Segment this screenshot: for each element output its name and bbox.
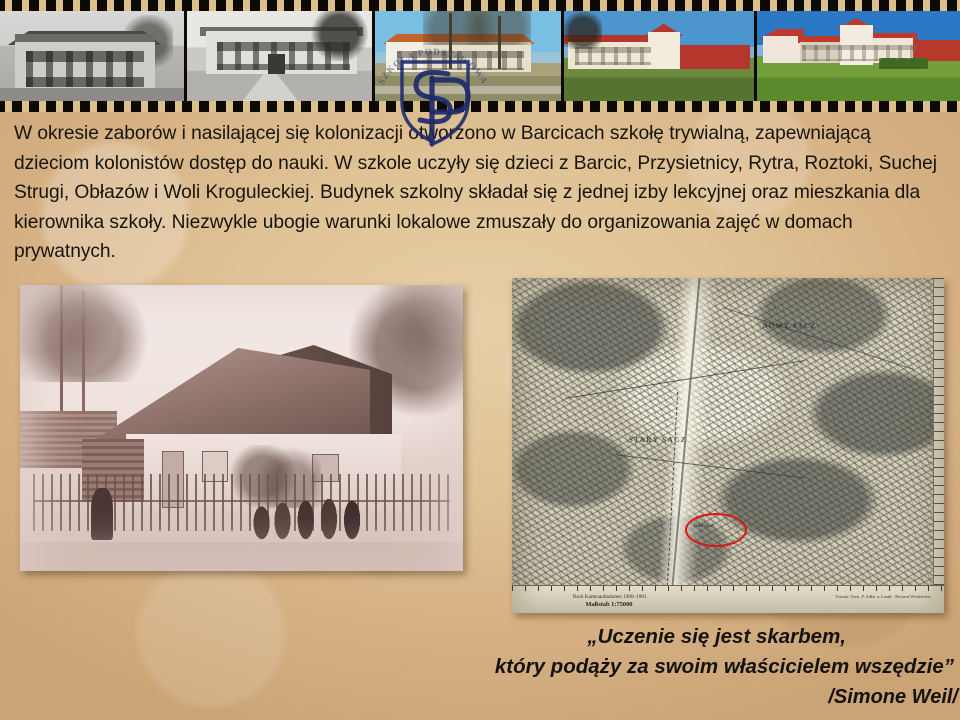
windows-shape [397, 51, 523, 71]
film-photo-2 [187, 11, 372, 101]
building-wing-shape [678, 45, 750, 68]
history-paragraph: W okresie zaborów i nasilającej się kolo… [14, 119, 944, 267]
tree-shape [305, 11, 368, 61]
color-school-orange-roof-image [375, 11, 561, 101]
historical-cottage-photo[interactable] [20, 285, 463, 571]
tower-shape [648, 32, 680, 70]
map-vignette [512, 278, 944, 613]
quote-line-1: „Uczenie się jest skarbem, [338, 622, 958, 652]
film-photo-4 [564, 11, 754, 101]
tree-canopy-shape [423, 11, 531, 45]
tree-shape [564, 11, 602, 49]
path-shape [243, 74, 299, 101]
windows-shape [575, 47, 651, 65]
quote-author: /Simone Weil/ [338, 682, 958, 712]
closing-quote: „Uczenie się jest skarbem, który podąży … [338, 622, 958, 712]
quote-line-2: który podąży za swoim właścicielem wszęd… [338, 652, 958, 682]
bw-school-oldest-image [0, 11, 184, 101]
bushes-shape [879, 58, 928, 69]
film-sprocket-holes-bottom [0, 101, 960, 112]
film-photo-1 [0, 11, 184, 101]
road-shape [375, 86, 561, 94]
door-shape [268, 54, 285, 74]
color-school-red-roof-image [564, 11, 754, 101]
film-frames [0, 11, 960, 101]
main-text-block: W okresie zaborów i nasilającej się kolo… [14, 119, 944, 267]
windows-shape [26, 51, 144, 87]
color-school-modern-image [757, 11, 960, 101]
film-sprocket-holes-top [0, 0, 960, 11]
film-photo-3 [375, 11, 561, 101]
film-photo-5 [757, 11, 960, 101]
building-wing-shape [763, 36, 800, 63]
photo-vignette [20, 285, 463, 571]
bw-school-courtyard-image [187, 11, 372, 101]
film-strip-banner [0, 0, 960, 112]
ground-shape [0, 88, 184, 101]
historical-topographic-map[interactable]: NOWY SĄCZ STARY SĄCZ Barcice Nach Karten… [512, 278, 944, 613]
